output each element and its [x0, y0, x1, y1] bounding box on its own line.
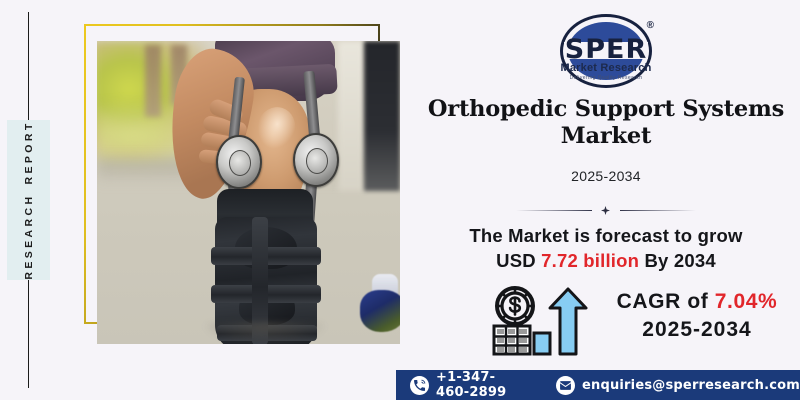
rail-line-bottom — [28, 278, 29, 388]
photo-post-a — [145, 45, 161, 117]
cagr-block: CAGR of 7.04% 2025-2034 — [484, 286, 794, 358]
photo-ground-shadow — [205, 322, 325, 344]
cagr-value: 7.04% — [715, 290, 778, 313]
sper-market-research-logo[interactable]: ® SPER Market Research Delivering Qualit… — [540, 12, 672, 90]
logo-subtitle: Market Research — [540, 62, 672, 74]
page-title: Orthopedic Support Systems Market — [426, 96, 786, 150]
content-panel: ® SPER Market Research Delivering Qualit… — [412, 0, 800, 368]
cagr-period: 2025-2034 — [602, 316, 792, 343]
phone-icon — [410, 376, 429, 395]
cagr-prefix: CAGR of — [617, 290, 715, 313]
hero-photo-block — [84, 24, 402, 346]
rail-label-line1: RESEARCH — [23, 194, 35, 280]
cagr-rate-line: CAGR of 7.04% — [602, 288, 792, 316]
logo-tagline: Delivering Quality Research — [540, 75, 672, 81]
rail-label-line2: REPORT — [23, 120, 35, 184]
photo-shoe — [360, 290, 400, 332]
knee-brace-photo — [97, 41, 400, 344]
forecast-suffix: By 2034 — [639, 250, 716, 271]
photo-hinge-left — [216, 135, 262, 189]
market-research-banner: RESEARCH REPORT — [0, 0, 800, 400]
left-rail: RESEARCH REPORT — [0, 0, 80, 400]
divider-diamond-icon — [601, 206, 610, 215]
coin-and-growth-chart-icon — [484, 286, 600, 358]
cagr-text: CAGR of 7.04% 2025-2034 — [602, 288, 792, 343]
forecast-value: 7.72 billion — [541, 250, 639, 271]
ornamental-divider — [516, 203, 696, 217]
envelope-icon — [556, 376, 575, 395]
email-address: enquiries@sperresearch.com — [582, 378, 800, 393]
report-period: 2025-2034 — [426, 168, 786, 184]
research-report-label: RESEARCH REPORT — [7, 120, 50, 280]
logo-wordmark: SPER — [540, 34, 672, 65]
forecast-line-1: The Market is forecast to grow — [469, 225, 742, 246]
contact-footer-bar: +1-347-460-2899 enquiries@sperresearch.c… — [396, 370, 800, 400]
email-contact[interactable]: enquiries@sperresearch.com — [556, 376, 800, 395]
photo-right-bright — [338, 41, 364, 191]
rail-line-top — [28, 12, 29, 122]
forecast-prefix: USD — [496, 250, 541, 271]
forecast-statement: The Market is forecast to grow USD 7.72 … — [426, 223, 786, 273]
photo-right-wall — [364, 41, 400, 191]
divider-line-right — [620, 210, 696, 211]
divider-line-left — [516, 210, 592, 211]
registered-trademark-icon: ® — [647, 20, 654, 31]
phone-contact[interactable]: +1-347-460-2899 — [410, 370, 526, 400]
photo-hinge-right — [293, 133, 339, 187]
phone-number: +1-347-460-2899 — [436, 370, 526, 400]
